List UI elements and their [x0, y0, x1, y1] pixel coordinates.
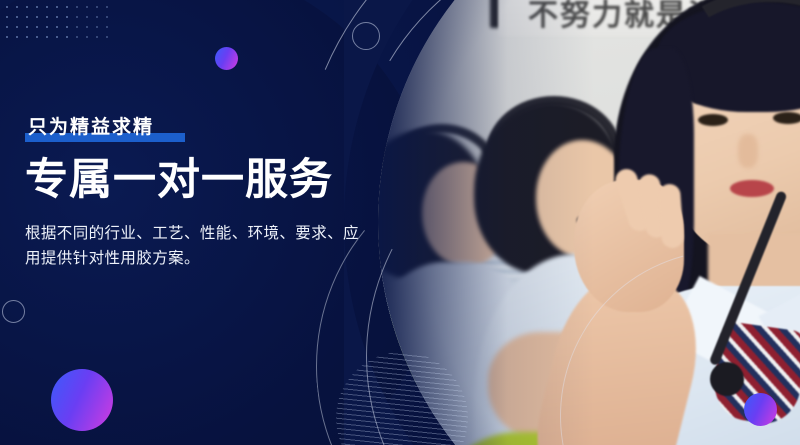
decor-ring-top: [352, 22, 380, 50]
banner-subcopy: 根据不同的行业、工艺、性能、环境、要求、应用提供针对性用胶方案。: [25, 221, 365, 271]
decor-gradient-dot-bottom-right: [744, 393, 777, 426]
banner-eyebrow: 只为精益求精: [25, 118, 157, 142]
decor-ring-left: [2, 300, 25, 323]
decor-gradient-dot-top: [215, 47, 238, 70]
banner-copy-block: 只为精益求精 专属一对一服务 根据不同的行业、工艺、性能、环境、要求、应用提供针…: [25, 118, 375, 271]
banner-headline: 专属一对一服务: [25, 158, 375, 204]
decor-gradient-dot-bottom-left: [51, 369, 113, 431]
dot-grid-top-left-inner: [2, 2, 74, 42]
banner-eyebrow-text: 只为精益求精: [28, 117, 154, 138]
promo-banner: 不努力就是淡季: [0, 0, 800, 445]
